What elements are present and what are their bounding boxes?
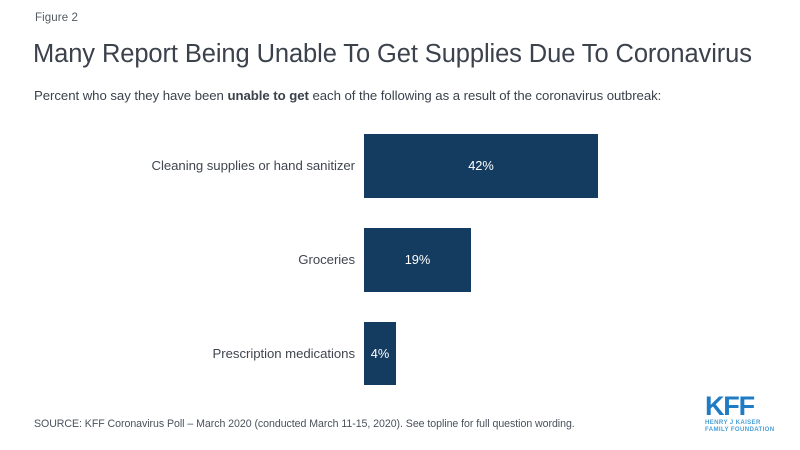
page-title: Many Report Being Unable To Get Supplies… [33, 40, 773, 69]
figure-number: Figure 2 [35, 12, 78, 24]
bar-category-label: Cleaning supplies or hand sanitizer [25, 158, 355, 173]
bar-value-label: 42% [364, 158, 598, 173]
kff-wordmark: KFF [705, 393, 787, 419]
chart-slide: Figure 2 Many Report Being Unable To Get… [0, 0, 800, 450]
bar-row: Cleaning supplies or hand sanitizer42% [0, 134, 800, 198]
bar-row: Groceries19% [0, 228, 800, 292]
bar-value-label: 19% [364, 252, 471, 267]
kff-logo[interactable]: KFF HENRY J KAISER FAMILY FOUNDATION [705, 393, 787, 439]
subtitle-text-tail: each of the following as a result of the… [309, 88, 661, 103]
kff-logo-subtitle-line1: HENRY J KAISER [705, 419, 787, 426]
bar-category-label: Prescription medications [25, 346, 355, 361]
subtitle-emphasis: unable to get [227, 88, 308, 103]
subtitle-text-lead: Percent who say they have been [34, 88, 227, 103]
kff-logo-subtitle-line2: FAMILY FOUNDATION [705, 426, 787, 433]
source-note: SOURCE: KFF Coronavirus Poll – March 202… [34, 418, 575, 430]
bar-chart-plot-area: Cleaning supplies or hand sanitizer42%Gr… [0, 120, 800, 395]
bar-row: Prescription medications4% [0, 322, 800, 385]
bar-value-label: 4% [364, 346, 396, 361]
bar-category-label: Groceries [25, 252, 355, 267]
chart-subtitle: Percent who say they have been unable to… [34, 88, 774, 103]
